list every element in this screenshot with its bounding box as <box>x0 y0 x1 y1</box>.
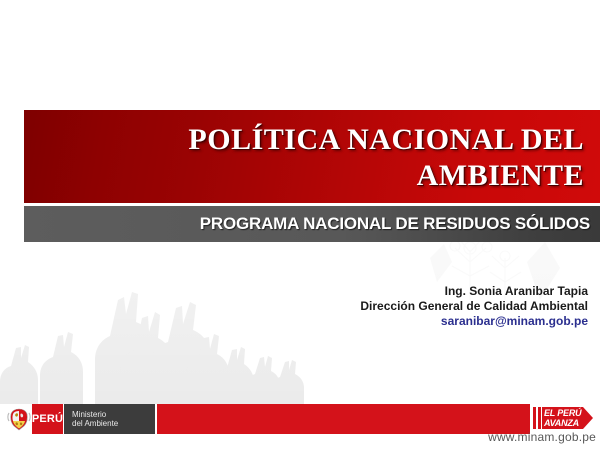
presenter-name: Ing. Sonia Aranibar Tapia <box>360 284 588 299</box>
presenter-block: Ing. Sonia Aranibar Tapia Dirección Gene… <box>360 284 588 329</box>
title-banner: POLÍTICA NACIONAL DEL AMBIENTE <box>24 110 600 203</box>
avanza-line-1: EL PERÚ <box>544 408 583 418</box>
peru-label-block: PERÚ <box>32 404 63 434</box>
ministry-label-block: Ministerio del Ambiente <box>64 404 155 434</box>
subtitle-text: PROGRAMA NACIONAL DE RESIDUOS SÓLIDOS <box>200 215 590 233</box>
ministry-label-line-1: Ministerio <box>72 410 155 420</box>
avanza-arrow-icon <box>583 407 593 429</box>
avanza-line-2: AVANZA <box>544 418 583 428</box>
ministry-label-line-2: del Ambiente <box>72 419 155 429</box>
subtitle-bar: PROGRAMA NACIONAL DE RESIDUOS SÓLIDOS <box>24 206 600 242</box>
avanza-flag-bars-icon <box>533 407 541 429</box>
peru-label: PERÚ <box>32 413 63 425</box>
el-peru-avanza-logo: EL PERÚ AVANZA <box>533 407 593 429</box>
page-title-line-1: POLÍTICA NACIONAL DEL <box>188 122 584 158</box>
presenter-email[interactable]: saranibar@minam.gob.pe <box>360 314 588 329</box>
presentation-slide: POLÍTICA NACIONAL DEL AMBIENTE PROGRAMA … <box>0 0 600 450</box>
website-url[interactable]: www.minam.gob.pe <box>460 430 596 444</box>
page-title-line-2: AMBIENTE <box>417 158 584 194</box>
presenter-office: Dirección General de Calidad Ambiental <box>360 299 588 314</box>
avanza-text-block: EL PERÚ AVANZA <box>542 407 583 429</box>
peru-coat-of-arms-icon <box>6 406 32 432</box>
